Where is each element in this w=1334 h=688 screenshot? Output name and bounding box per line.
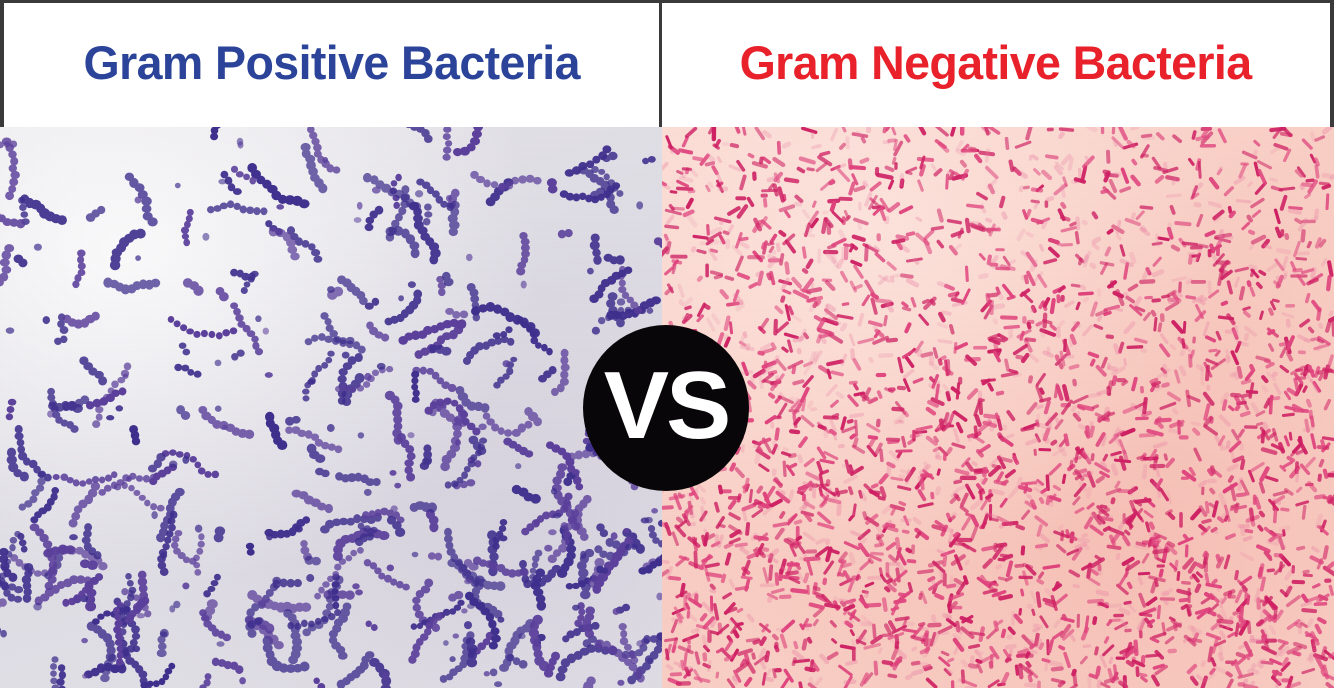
gram-positive-micrograph [0, 127, 662, 688]
page-title-gram-positive: Gram Positive Bacteria [83, 39, 579, 92]
header-cell-gram-negative: Gram Negative Bacteria [662, 3, 1334, 127]
gram-negative-cells [662, 127, 1334, 688]
gram-positive-cells [0, 127, 662, 688]
gram-stain-comparison-figure: Gram Positive Bacteria Gram Negative Bac… [0, 0, 1334, 688]
header-cell-gram-positive: Gram Positive Bacteria [0, 3, 662, 127]
versus-label: VS [604, 358, 729, 454]
versus-badge: VS [583, 325, 749, 491]
gram-negative-micrograph [662, 127, 1334, 688]
page-title-gram-negative: Gram Negative Bacteria [740, 39, 1252, 92]
header-band: Gram Positive Bacteria Gram Negative Bac… [0, 0, 1334, 127]
